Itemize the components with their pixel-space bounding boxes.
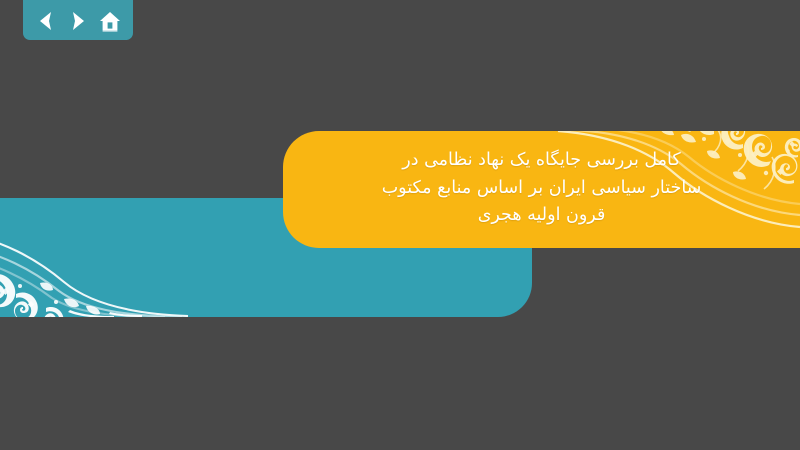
slide-canvas: کامل بررسی جایگاه یک نهاد نظامی در ساختا… (0, 0, 800, 450)
arabesque-corner-ornament (0, 198, 195, 317)
home-icon (99, 11, 121, 32)
title-line-3: قرون اولیه هجری (478, 203, 606, 229)
forward-arrow-icon (69, 11, 87, 31)
forward-button[interactable] (64, 7, 92, 35)
home-button[interactable] (96, 7, 124, 35)
navigation-toolbar (23, 0, 133, 40)
title-line-1: کامل بررسی جایگاه یک نهاد نظامی در (402, 148, 680, 174)
title-line-2: ساختار سیاسی ایران بر اساس منابع مکتوب (382, 176, 702, 202)
back-button[interactable] (32, 7, 60, 35)
orange-title-panel: کامل بررسی جایگاه یک نهاد نظامی در ساختا… (283, 131, 800, 248)
presentation-title: کامل بررسی جایگاه یک نهاد نظامی در ساختا… (283, 131, 800, 248)
back-arrow-icon (37, 11, 55, 31)
